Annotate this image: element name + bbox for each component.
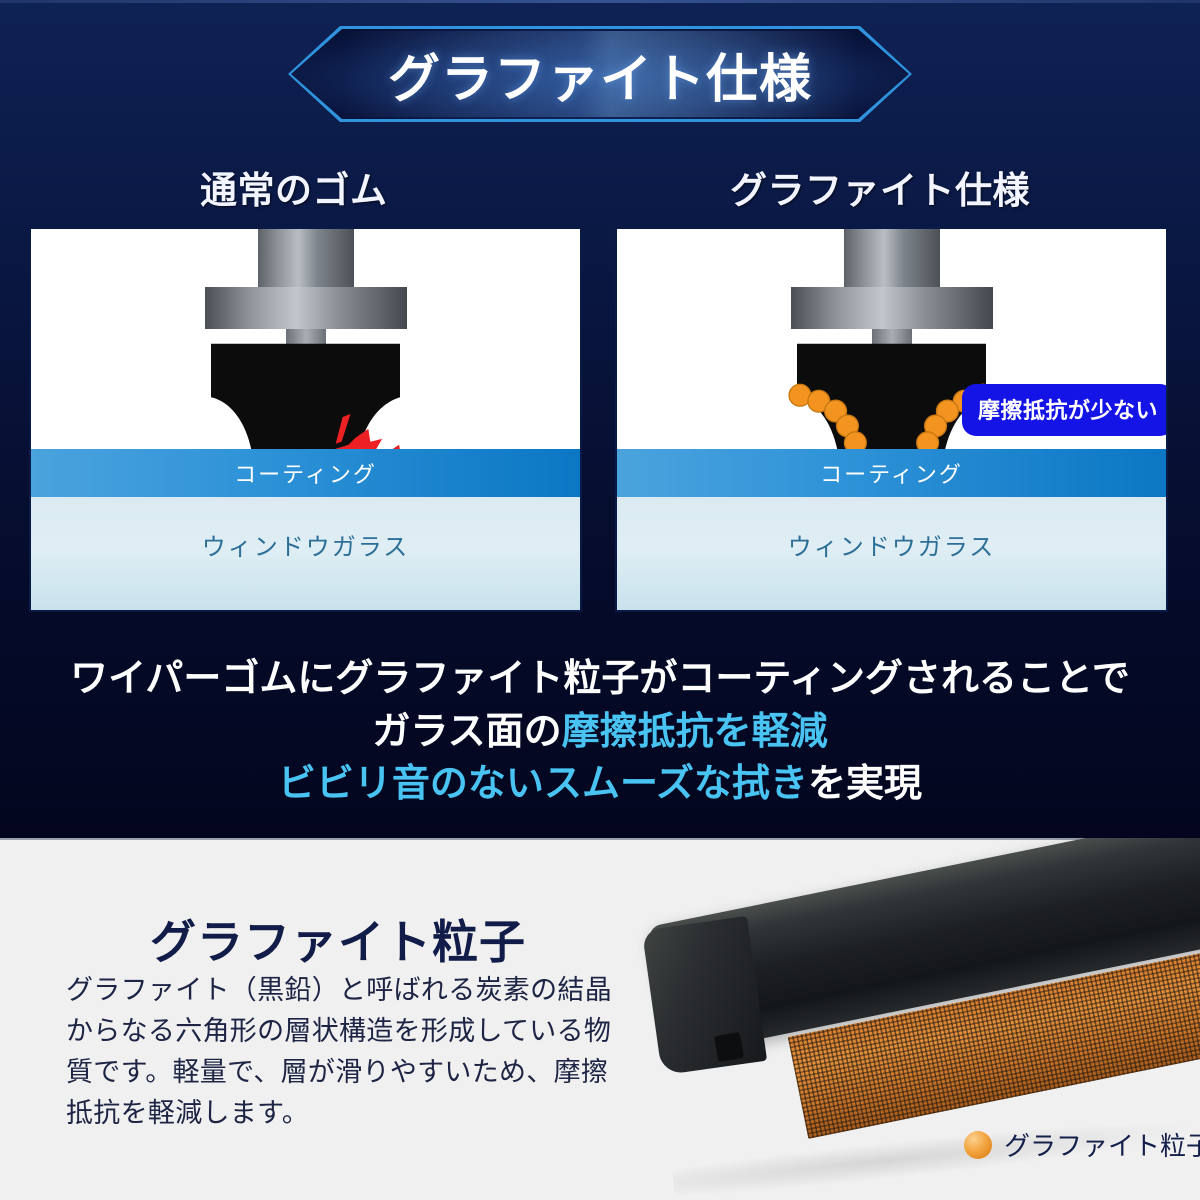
- glass-label-left: ウィンドウガラス: [202, 527, 410, 562]
- description-line-3: ビビリ音のないスムーズな拭きを実現: [0, 752, 1200, 807]
- wiper-blade-photo: グラファイト粒子: [612, 838, 1200, 1200]
- coating-label-left: コーティング: [234, 457, 377, 489]
- title-banner: グラファイト仕様: [288, 26, 912, 122]
- glass-layer-right: ウィンドウガラス: [617, 497, 1166, 610]
- blade-notch: [714, 1032, 744, 1062]
- coating-layer-right: コーティング: [617, 449, 1166, 497]
- page-title: グラファイト仕様: [288, 26, 912, 122]
- desc3-suffix: を実現: [808, 763, 922, 805]
- holder-flange: [205, 287, 407, 329]
- desc2-prefix: ガラス面の: [372, 711, 561, 753]
- bottom-title: グラファイト粒子: [150, 906, 526, 972]
- coating-layer-left: コーティング: [31, 449, 580, 497]
- holder-flange: [791, 287, 993, 329]
- diagram-stage-left: 摩擦抵抗が大きい 摩擦でビビリ音 コーティング ウィンドウガラス: [31, 229, 580, 610]
- holder-top-cylinder: [844, 229, 940, 287]
- photo-legend-label: グラファイト粒子: [1004, 1126, 1200, 1163]
- description-line-1: ワイパーゴムにグラファイト粒子がコーティングされることで: [0, 647, 1200, 702]
- rubber-blade-end-cap: [642, 916, 767, 1075]
- diagram-panel-normal-rubber: 摩擦抵抗が大きい 摩擦でビビリ音 コーティング ウィンドウガラス: [29, 227, 582, 612]
- glass-layer-left: ウィンドウガラス: [31, 497, 580, 610]
- badge-low-friction: 摩擦抵抗が少ない: [962, 384, 1168, 436]
- diagram-stage-right: スムーズな動き 摩擦抵抗が少ない グラファイト粒子 コーティング ウィンドウガラ…: [617, 229, 1166, 610]
- graphite-particle-icon: [964, 1131, 992, 1159]
- panel-heading-graphite: グラファイト仕様: [730, 160, 1030, 214]
- bottom-body-text: グラファイト（黒鉛）と呼ばれる炭素の結晶からなる六角形の層状構造を形成している物…: [66, 970, 626, 1134]
- desc3-highlight-1: ビビリ音のない: [278, 763, 544, 805]
- description-line-2: ガラス面の摩擦抵抗を軽減: [0, 700, 1200, 755]
- desc3-highlight-2: スムーズな拭き: [544, 763, 808, 805]
- holder-neck: [872, 329, 912, 351]
- top-section: グラファイト仕様 通常のゴム グラファイト仕様: [0, 0, 1200, 838]
- top-edge-highlight: [0, 0, 1200, 3]
- holder-neck: [286, 329, 326, 351]
- photo-legend: グラファイト粒子: [964, 1126, 1200, 1163]
- diagram-panel-graphite: スムーズな動き 摩擦抵抗が少ない グラファイト粒子 コーティング ウィンドウガラ…: [615, 227, 1168, 612]
- glass-label-right: ウィンドウガラス: [788, 527, 996, 562]
- desc2-highlight: 摩擦抵抗を軽減: [562, 711, 828, 753]
- panel-heading-normal: 通常のゴム: [200, 160, 388, 214]
- holder-top-cylinder: [258, 229, 354, 287]
- infographic-page: グラファイト仕様 通常のゴム グラファイト仕様: [0, 0, 1200, 1200]
- bottom-section: グラファイト粒子 グラファイト（黒鉛）と呼ばれる炭素の結晶からなる六角形の層状構…: [0, 838, 1200, 1200]
- coating-label-right: コーティング: [820, 457, 963, 489]
